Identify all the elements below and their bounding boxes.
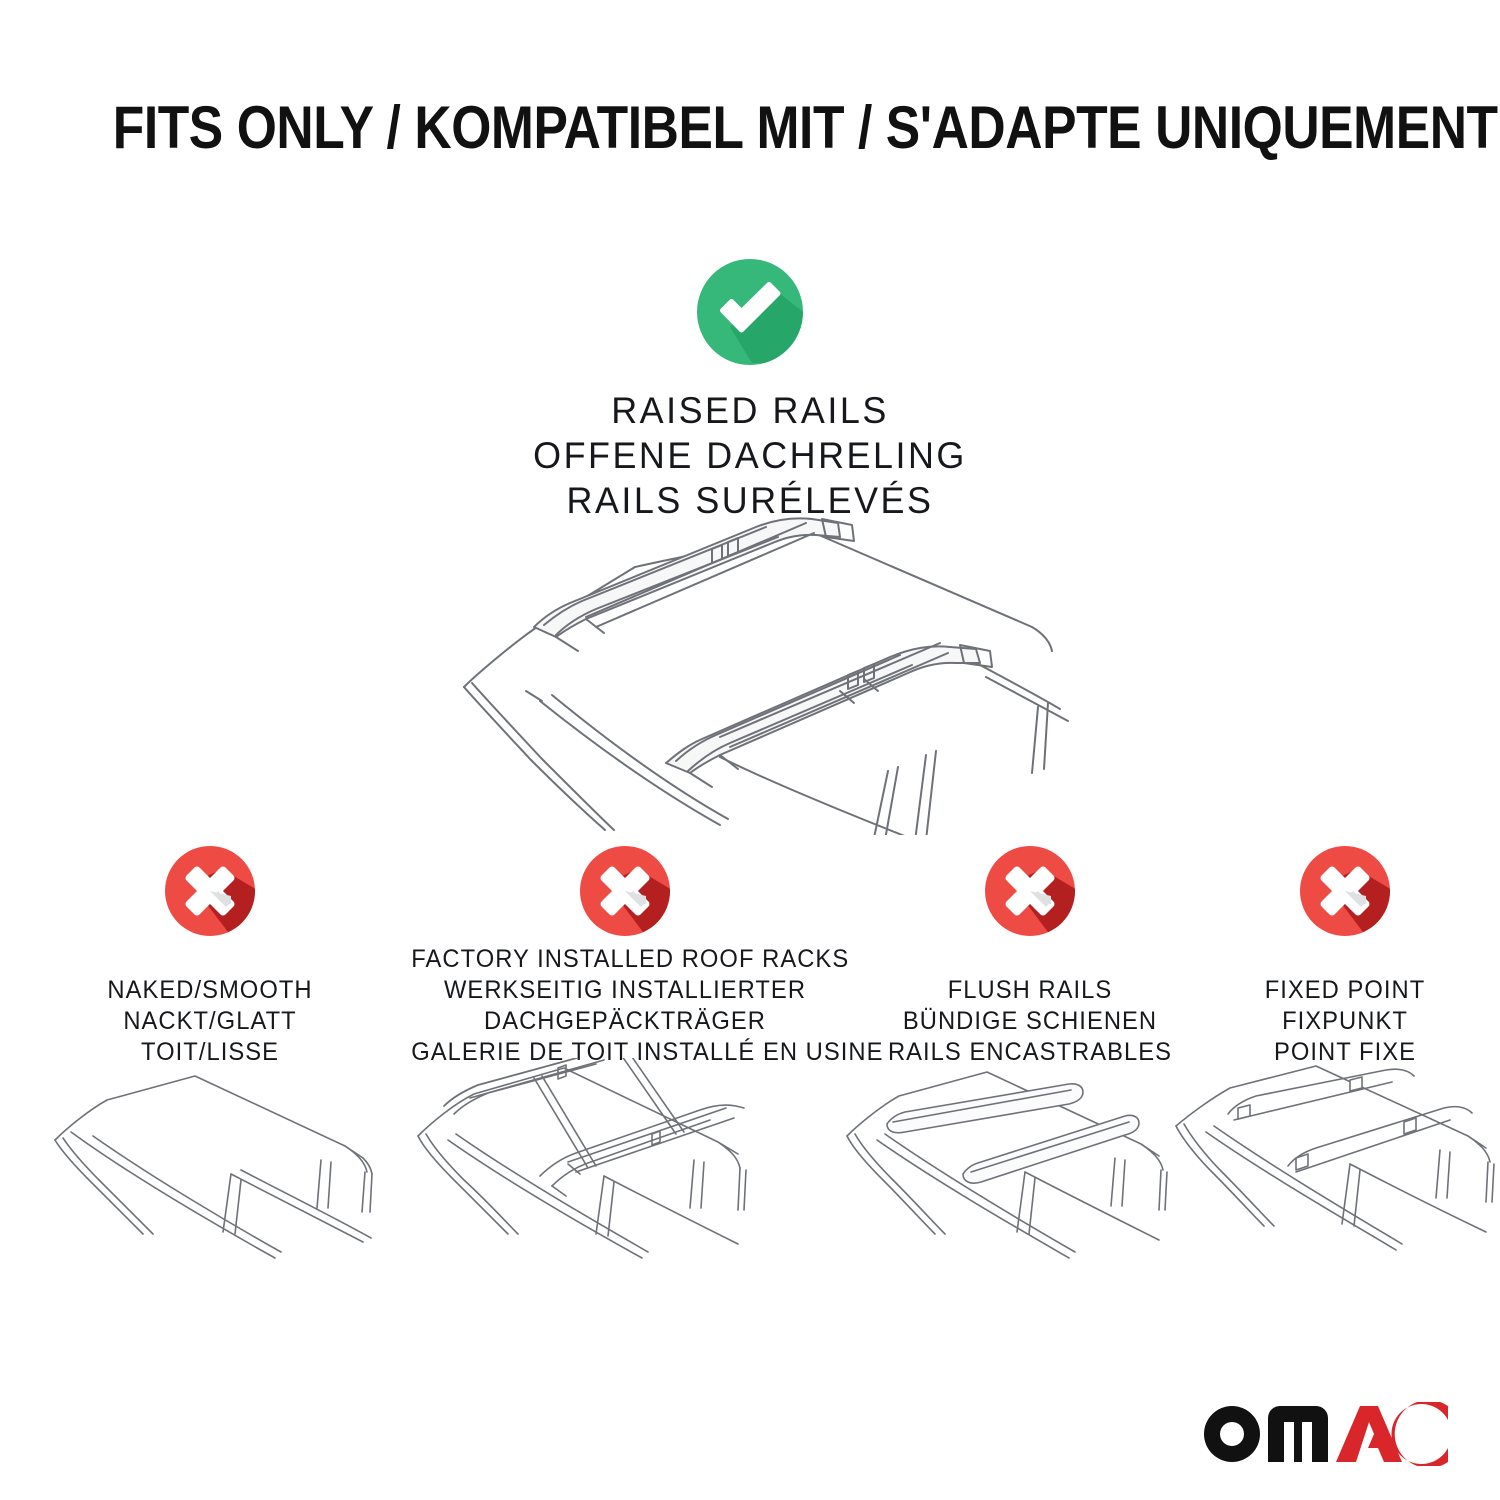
incompatible-item-flush-rails: FLUSH RAILS BÜNDIGE SCHIENEN RAILS ENCAS… <box>860 845 1200 1068</box>
label-line-3: DACHGEPÄCKTRÄGER <box>411 1006 839 1037</box>
cross-circle-icon <box>579 845 671 937</box>
label-line-2: NACKT/GLATT <box>39 1006 381 1037</box>
label-line-1: FACTORY INSTALLED ROOF RACKS <box>411 944 839 975</box>
car-roof-fixed-point-illustration <box>1168 1060 1500 1284</box>
compatible-section: RAISED RAILS OFFENE DACHRELING RAILS SUR… <box>0 258 1500 523</box>
car-roof-raised-rails-illustration <box>420 505 1090 835</box>
label-line-1: FIXED POINT <box>1207 975 1483 1006</box>
incompatible-item-factory-racks: FACTORY INSTALLED ROOF RACKS WERKSEITIG … <box>400 845 850 1068</box>
label-line-1: FLUSH RAILS <box>869 975 1192 1006</box>
logo-letter-m <box>1268 1406 1328 1462</box>
incompatible-item-naked: NAKED/SMOOTH NACKT/GLATT TOIT/LISSE <box>30 845 390 1068</box>
incompatible-label-factory-racks: FACTORY INSTALLED ROOF RACKS WERKSEITIG … <box>411 944 839 1068</box>
car-roof-flush-rails-illustration <box>835 1062 1205 1284</box>
label-line-2: BÜNDIGE SCHIENEN <box>869 1006 1192 1037</box>
car-roof-factory-racks-illustration <box>408 1058 788 1288</box>
incompatible-label-naked: NAKED/SMOOTH NACKT/GLATT TOIT/LISSE <box>39 975 381 1068</box>
cross-badge-wrap <box>400 845 850 941</box>
page-header: FITS ONLY / KOMPATIBEL MIT / S'ADAPTE UN… <box>0 98 1500 158</box>
cross-badge-wrap <box>860 845 1200 941</box>
incompatible-label-flush-rails: FLUSH RAILS BÜNDIGE SCHIENEN RAILS ENCAS… <box>869 975 1192 1068</box>
logo-letter-o <box>1204 1406 1260 1462</box>
cross-circle-icon <box>164 845 256 937</box>
compatible-label-line-1: RAISED RAILS <box>23 388 1478 433</box>
incompatible-item-fixed-point: FIXED POINT FIXPUNKT POINT FIXE <box>1200 845 1490 1068</box>
cross-badge-wrap <box>1200 845 1490 941</box>
label-line-1: NAKED/SMOOTH <box>39 975 381 1006</box>
omac-logo <box>1200 1402 1452 1466</box>
car-roof-naked-illustration <box>45 1062 405 1282</box>
label-line-2: WERKSEITIG INSTALLIERTER <box>411 975 839 1006</box>
cross-circle-icon <box>984 845 1076 937</box>
compatible-label-line-2: OFFENE DACHRELING <box>23 433 1478 478</box>
label-line-2: FIXPUNKT <box>1207 1006 1483 1037</box>
compatible-label: RAISED RAILS OFFENE DACHRELING RAILS SUR… <box>23 388 1478 523</box>
cross-circle-icon <box>1299 845 1391 937</box>
check-circle-icon <box>696 258 804 366</box>
page-title: FITS ONLY / KOMPATIBEL MIT / S'ADAPTE UN… <box>113 98 1498 158</box>
cross-badge-wrap <box>30 845 390 941</box>
incompatible-label-fixed-point: FIXED POINT FIXPUNKT POINT FIXE <box>1207 975 1483 1068</box>
